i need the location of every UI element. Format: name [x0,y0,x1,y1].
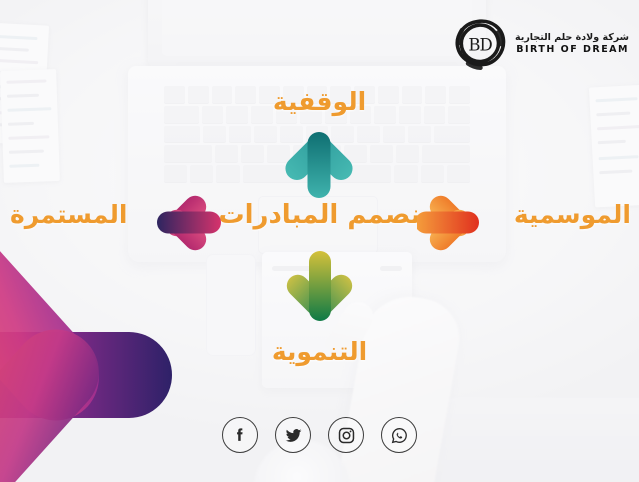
social-link-twitter[interactable] [275,417,311,453]
facebook-icon [231,426,249,444]
twitter-icon [284,426,303,445]
social-link-facebook[interactable] [222,417,258,453]
instagram-icon [337,426,356,445]
social-link-whatsapp[interactable] [381,417,417,453]
node-label-left: المستمرة [10,200,127,229]
arrow-left-icon [145,192,221,254]
initiatives-diagram: الوقفية نصمم المبادرات الموسمية [0,0,639,482]
social-link-instagram[interactable] [328,417,364,453]
social-links [0,417,639,453]
node-label-top: الوقفية [273,87,366,116]
whatsapp-icon [390,426,409,445]
poster-canvas: شركة ولادة حلم التجارية BIRTH OF DREAM B… [0,0,639,482]
arrow-down-icon [284,249,356,325]
center-label: نصمم المبادرات [218,200,420,230]
node-label-right: الموسمية [514,200,631,229]
arrow-right-icon [417,192,489,254]
node-label-bottom: التنموية [272,337,367,366]
arrow-up-icon [281,128,357,200]
